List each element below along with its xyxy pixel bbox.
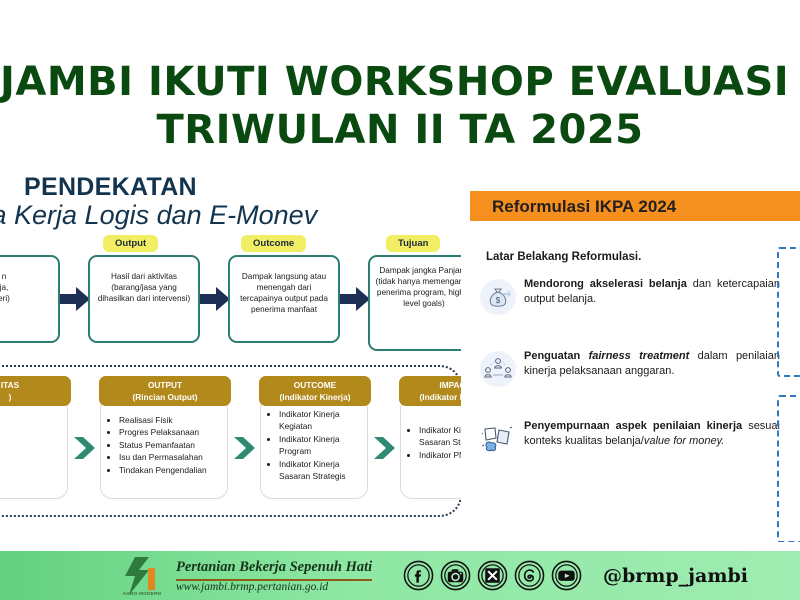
left-slide-subheading: ka Kerja Logis dan E-Monev [0,200,461,231]
list-item: Indikator Kinerja Kegiatan [279,408,363,433]
flow-card-1-label: Output [103,235,158,252]
flow-card-1-body: Hasil dari aktivitas (barang/jasa yang d… [90,271,198,304]
reform-point-2: Penguatan fairness treatment dalam penil… [480,349,780,378]
threads-icon[interactable] [514,560,545,591]
flow-card-3-body: Dampak jangka Panjang (tidak hanya memen… [370,265,461,309]
social-icon-group [403,560,582,591]
group-card-1-title: OUTPUT [99,380,231,392]
list-item: ndalian [0,451,63,463]
group-card-1-header: OUTPUT (Rincian Output) [99,376,231,406]
group-card-3-header: IMPACT (Indikator Kinerja) [399,376,461,406]
reform-point-1: $ Mendorong akselerasi belanja dan keter… [480,277,780,306]
x-twitter-icon[interactable] [477,560,508,591]
slide-screenshot: JAMBI IKUTI WORKSHOP EVALUASI K TRIWULAN… [0,0,800,600]
ikpa-banner: Reformulasi IKPA 2024 [470,191,800,221]
list-item: Indikator Kinerja Sasaran Strategis [279,458,363,483]
group-card-3-subtitle: (Indikator Kinerja) [399,392,461,404]
group-card-2-title: OUTCOME [259,380,371,392]
section-title: Latar Belakang Reformulasi. [486,251,641,263]
group-card-0-header: ITAS ) [0,376,71,406]
list-item: Progres Pelaksanaan [119,426,223,438]
puzzle-icon [480,421,516,457]
title-line-1: JAMBI IKUTI WORKSHOP EVALUASI K [0,58,800,106]
youtube-icon[interactable] [551,560,582,591]
reform-point-1-text: Mendorong akselerasi belanja dan keterca… [524,277,780,306]
title-line-2: TRIWULAN II TA 2025 [0,106,800,154]
group-arrow-1 [72,435,98,461]
flow-card-0-body: n ja, eri) [0,271,58,304]
group-arrow-3 [372,435,398,461]
list-item: Indikator Kinerja Program [279,433,363,458]
flow-card-3-label: Tujuan [386,235,440,252]
group-card-1-list: Realisasi Fisik Progres Pelaksanaan Stat… [109,414,223,476]
group-card-2: OUTCOME (Indikator Kinerja) Indikator Ki… [260,397,368,499]
footer-slogan: Pertanian Bekerja Sepenuh Hati [176,559,372,576]
group-card-3-list: Indikator Kinerja Sasaran Strategis Indi… [409,424,461,461]
money-bag-icon: $ [480,279,516,315]
dashed-callout-2 [777,395,800,542]
flow-card-2-label: Outcome [241,235,306,252]
group-card-2-list: Indikator Kinerja Kegiatan Indikator Kin… [269,408,363,482]
group-card-1: OUTPUT (Rincian Output) Realisasi Fisik … [100,397,228,499]
flow-card-2: Dampak langsung atau menengah dari terca… [228,255,340,343]
right-slide-panel: Reformulasi IKPA 2024 Latar Belakang Ref… [470,167,800,542]
group-card-2-header: OUTCOME (Indikator Kinerja) [259,376,371,406]
logo-caption: AGRO MODERN [111,591,173,596]
left-slide-panel: PENDEKATAN ka Kerja Logis dan E-Monev n … [0,167,461,542]
list-item: Indikator PN [419,449,461,461]
left-slide-heading: PENDEKATAN [24,173,461,202]
instagram-icon[interactable] [440,560,471,591]
svg-text:$: $ [496,296,501,305]
flow-arrow-3 [340,287,370,311]
reform-point-1-bold: Mendorong akselerasi belanja [524,278,687,290]
reform-point-3: Penyempurnaan aspek penilaian kinerja se… [480,419,780,448]
flow-card-0: n ja, eri) [0,255,60,343]
footer-website: www.jambi.brmp.pertanian.go.id [176,581,328,593]
indicator-group-container: ITAS ) naan lahan ndalian OUTPUT (Rincia… [0,365,461,517]
page-title: JAMBI IKUTI WORKSHOP EVALUASI K TRIWULAN… [0,58,800,154]
flow-card-1: Hasil dari aktivitas (barang/jasa yang d… [88,255,200,343]
group-card-0-subtitle: ) [0,392,71,404]
social-handle: @brmp_jambi [603,565,748,587]
list-item: naan [0,414,63,426]
dashed-callout-1 [777,247,800,377]
group-card-0-title: ITAS [0,380,71,392]
group-card-0-list: naan lahan ndalian [0,414,63,463]
group-card-2-subtitle: (Indikator Kinerja) [259,392,371,404]
list-item: lahan [0,426,63,438]
flow-arrow-1 [60,287,90,311]
group-card-3: IMPACT (Indikator Kinerja) Indikator Kin… [400,397,461,499]
flow-arrow-2 [200,287,230,311]
reform-point-3-bold: Penyempurnaan aspek penilaian kinerja [524,420,742,432]
group-card-1-subtitle: (Rincian Output) [99,392,231,404]
group-card-0: ITAS ) naan lahan ndalian [0,397,68,499]
list-item: Status Pemanfaatan [119,439,223,451]
logic-flow-row: n ja, eri) Hasil dari aktivitas (barang/… [0,235,461,350]
reform-point-2-text: Penguatan fairness treatment dalam penil… [524,349,780,378]
flow-card-3: Dampak jangka Panjang (tidak hanya memen… [368,255,461,351]
group-arrow-2 [232,435,258,461]
reform-point-3-text: Penyempurnaan aspek penilaian kinerja se… [524,419,780,448]
list-item: Tindakan Pengendalian [119,464,223,476]
facebook-icon[interactable] [403,560,434,591]
reform-point-3-italic: value for money. [644,435,725,447]
group-card-3-title: IMPACT [399,380,461,392]
list-item: Isu dan Permasalahan [119,451,223,463]
reform-point-2-bold: Penguatan [524,350,589,362]
reform-point-2-italic: fairness treatment [589,350,690,362]
fairness-people-icon [480,351,516,387]
footer-bar: AGRO MODERN Pertanian Bekerja Sepenuh Ha… [0,551,800,600]
list-item: Realisasi Fisik [119,414,223,426]
flow-card-2-body: Dampak langsung atau menengah dari terca… [230,271,338,315]
list-item: Indikator Kinerja Sasaran Strategis [419,424,461,449]
ikpa-banner-label: Reformulasi IKPA 2024 [470,191,800,217]
